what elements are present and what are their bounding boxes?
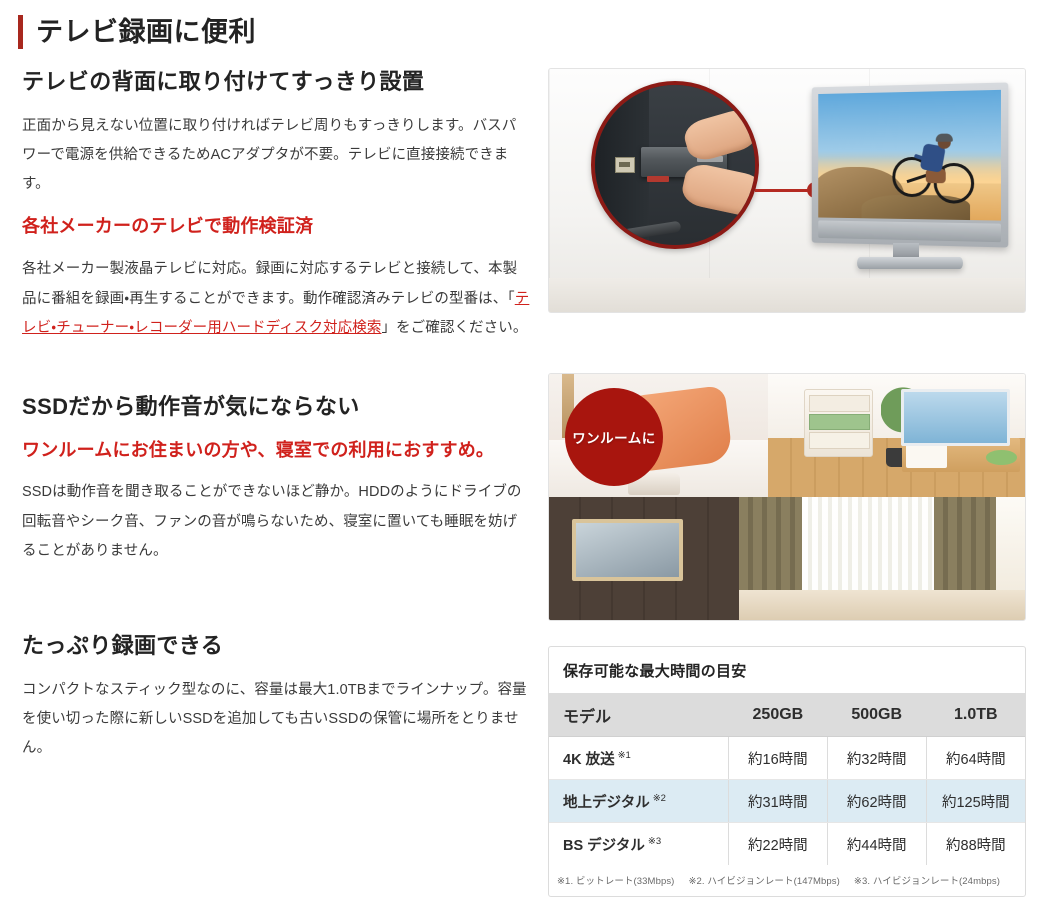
screen-bmx-rider (892, 124, 976, 200)
cabinet-drawer-bottom (809, 432, 870, 449)
row-label-text: BS デジタル (563, 838, 645, 854)
table-footnotes: ※1. ビットレート(33Mbps)※2. ハイビジョンレート(147Mbps)… (549, 865, 1025, 896)
footnote-1: ※1. ビットレート(33Mbps) (557, 876, 674, 887)
tv-bezel (812, 82, 1009, 247)
section-heading-quiet: SSDだから動作音が気にならない (22, 393, 530, 421)
photo-bedroom-window (739, 497, 1025, 620)
media-spacer-2 (548, 621, 1028, 646)
table-body: 4K 放送※1 約16時間 約32時間 約64時間 地上デジタル※2 約31時間… (549, 737, 1025, 866)
section-paragraph-install: 正面から見えない位置に取り付ければテレビ周りもすっきりします。バスパワーで電源を… (22, 112, 530, 200)
row-label-text: 4K 放送 (563, 752, 615, 768)
table-header-model: モデル (549, 694, 728, 737)
photo-living-room (768, 374, 1025, 497)
row-label-bs: BS デジタル※3 (549, 823, 728, 866)
table-head: モデル 250GB 500GB 1.0TB (549, 694, 1025, 737)
cell-bs-1tb: 約88時間 (926, 823, 1025, 866)
photo-room-collage: ワンルームに 寝室に (548, 373, 1026, 621)
row-label-terrestrial: 地上デジタル※2 (549, 780, 728, 823)
left-content-column: テレビの背面に取り付けてすっきり設置 正面から見えない位置に取り付ければテレビ周… (22, 68, 530, 778)
table-header-500gb: 500GB (827, 694, 926, 737)
badge-one-room-label: ワンルームに (572, 427, 656, 447)
section-paragraph-verified: 各社メーカー製液晶テレビに対応。録画に対応するテレビと接続して、本製品に番組を録… (22, 255, 530, 343)
cell-bs-500gb: 約44時間 (827, 823, 926, 866)
paragraph-text-pre: 各社メーカー製液晶テレビに対応。録画に対応するテレビと接続して、本製品に番組を録… (22, 261, 517, 306)
photo-tv-installation (548, 68, 1026, 313)
footnote-mark: ※2 (653, 793, 666, 804)
cell-terrestrial-250gb: 約31時間 (728, 780, 827, 823)
finger-lower (680, 161, 759, 219)
table-header-1tb: 1.0TB (926, 694, 1025, 737)
bedroom-bed (739, 590, 1025, 620)
section-subheading-quiet: ワンルームにお住まいの方や、寝室での利用におすすめ。 (22, 437, 530, 465)
collage-bottom-row: 寝室に (549, 497, 1025, 620)
tv-screen (818, 90, 1001, 221)
footnote-mark: ※3 (648, 836, 661, 847)
finger-upper (681, 106, 759, 164)
collage-top-row: ワンルームに (549, 374, 1025, 497)
table-row: 地上デジタル※2 約31時間 約62時間 約125時間 (549, 780, 1025, 823)
cell-4k-250gb: 約16時間 (728, 737, 827, 780)
wall-mounted-tv (572, 519, 683, 581)
footnote-3: ※3. ハイビジョンレート(24mbps) (854, 876, 1000, 887)
cabinet-drawer-top (809, 395, 870, 412)
television-illustration (807, 85, 1021, 281)
callout-connector-line (755, 189, 813, 192)
photo-floor (549, 278, 1025, 312)
storage-cabinet (804, 389, 873, 457)
section-spacer-2 (22, 580, 530, 632)
recording-time-table: 保存可能な最大時間の目安 モデル 250GB 500GB 1.0TB 4K 放送… (548, 646, 1026, 897)
cell-4k-500gb: 約32時間 (827, 737, 926, 780)
cell-terrestrial-1tb: 約125時間 (926, 780, 1025, 823)
zoom-callout-circle (591, 81, 759, 249)
section-paragraph-capacity: コンパクトなスティック型なのに、容量は最大1.0TBまでラインナップ。容量を使い… (22, 676, 530, 764)
section-subheading-verified: 各社メーカーのテレビで動作検証済 (22, 213, 530, 241)
page-title: テレビ録画に便利 (36, 19, 256, 46)
living-room-tv (901, 389, 1010, 447)
cell-terrestrial-500gb: 約62時間 (827, 780, 926, 823)
row-label-text: 地上デジタル (563, 795, 650, 811)
accent-bar (18, 15, 23, 49)
footnote-2: ※2. ハイビジョンレート(147Mbps) (688, 876, 839, 887)
section-spacer-1 (22, 357, 530, 393)
page-title-block: テレビ録画に便利 (18, 12, 256, 52)
table-header-250gb: 250GB (728, 694, 827, 737)
right-media-column: ワンルームに 寝室に 保存可能な最大時間の目安 (548, 68, 1028, 897)
table-caption: 保存可能な最大時間の目安 (549, 647, 1025, 694)
media-spacer-1 (548, 313, 1028, 373)
badge-one-room: ワンルームに (565, 388, 663, 486)
product-red-tab (647, 176, 669, 182)
section-heading-capacity: たっぷり録画できる (22, 632, 530, 660)
hand-illustration (683, 107, 759, 227)
row-label-4k: 4K 放送※1 (549, 737, 728, 780)
spec-table-grid: モデル 250GB 500GB 1.0TB 4K 放送※1 約16時間 約32時… (549, 694, 1025, 865)
rider-helmet (936, 134, 953, 142)
table-header-row: モデル 250GB 500GB 1.0TB (549, 694, 1025, 737)
section-heading-install: テレビの背面に取り付けてすっきり設置 (22, 68, 530, 96)
cell-bs-250gb: 約22時間 (728, 823, 827, 866)
usb-port-icon (615, 157, 635, 173)
sheer-curtain (802, 497, 945, 598)
cell-4k-1tb: 約64時間 (926, 737, 1025, 780)
paragraph-text-post: 」をご確認ください。 (381, 320, 527, 336)
photo-wall-mounted-tv (549, 497, 739, 620)
table-row: 4K 放送※1 約16時間 約32時間 約64時間 (549, 737, 1025, 780)
tv-speaker-bar (818, 220, 1001, 242)
table-row: BS デジタル※3 約22時間 約44時間 約88時間 (549, 823, 1025, 866)
tv-stand-base (857, 257, 963, 269)
cabinet-drawer-middle (809, 414, 870, 431)
section-paragraph-quiet: SSDは動作音を聞き取ることができないほど静か。HDDのようにドライブの回転音や… (22, 478, 530, 566)
footnote-mark: ※1 (618, 750, 631, 761)
